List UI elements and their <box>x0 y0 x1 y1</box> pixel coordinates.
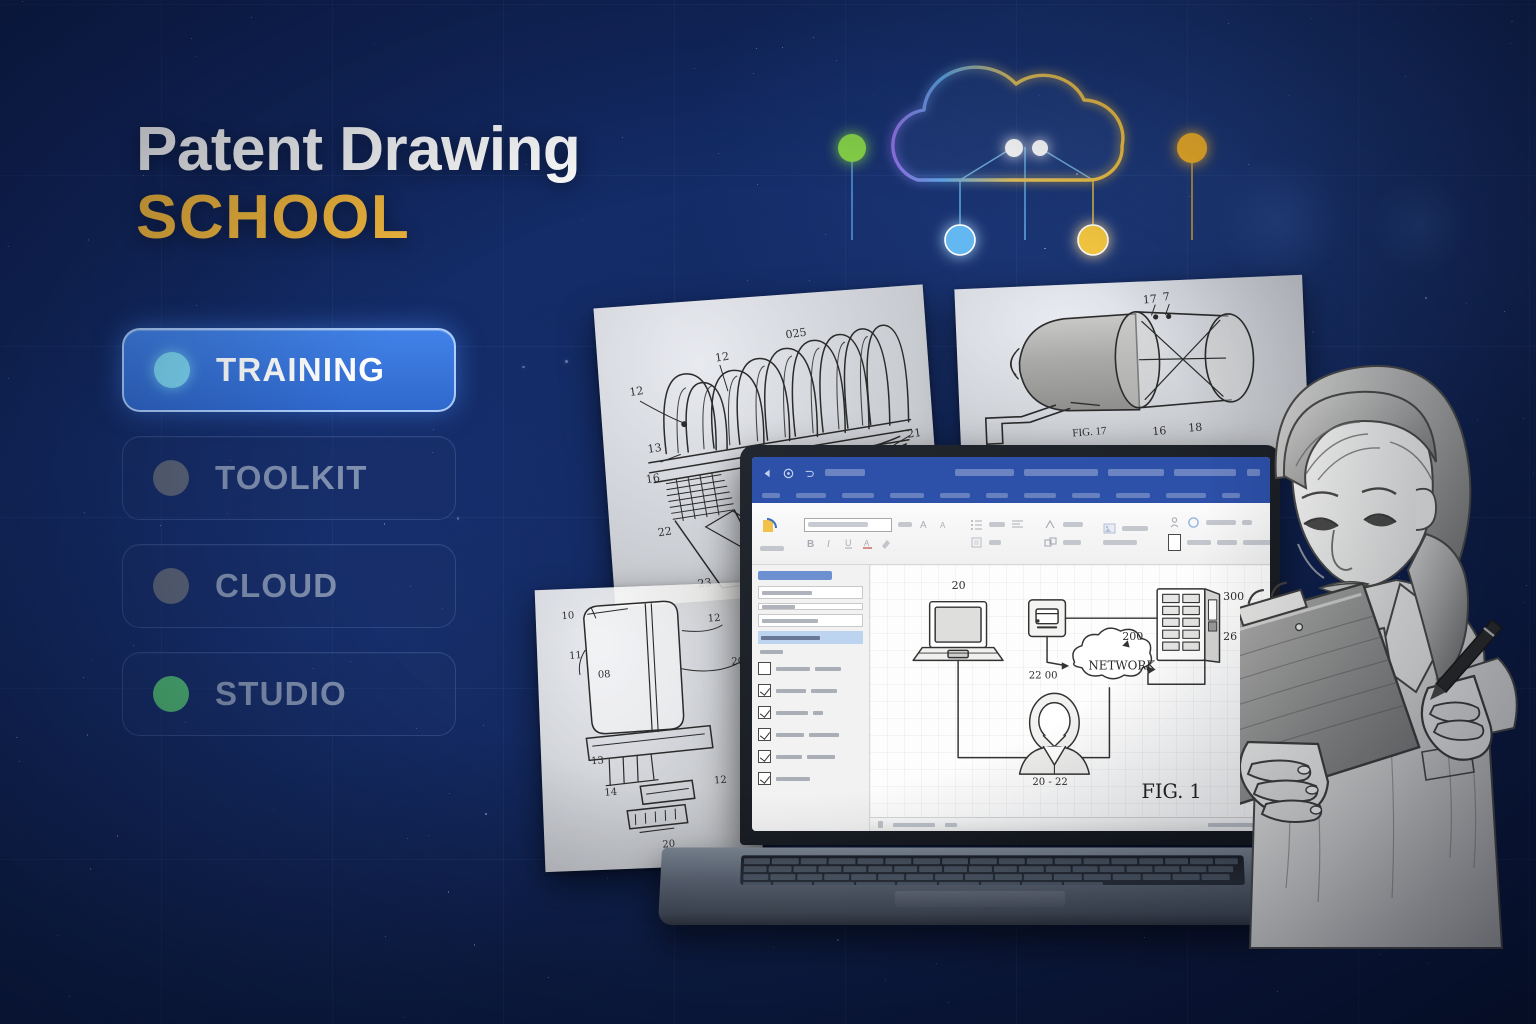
svg-text:14: 14 <box>604 787 618 799</box>
zoom-control-blur[interactable] <box>1208 823 1262 827</box>
laptop-base <box>658 847 1282 925</box>
sidebar-field-3[interactable] <box>758 614 863 627</box>
shapes-blur-3 <box>1187 540 1211 545</box>
patent-sheet-panel-device: 10 12 11 08 20 13 14 12 20 <box>535 582 764 872</box>
laptop-keyboard <box>740 855 1245 885</box>
svg-text:B: B <box>807 539 814 550</box>
list-item[interactable] <box>758 772 863 785</box>
list-item[interactable] <box>758 662 863 675</box>
nav-label-studio: STUDIO <box>215 675 347 713</box>
callout-person: 20 - 22 <box>1032 777 1067 788</box>
group-icon[interactable] <box>1044 536 1057 549</box>
list-item-value-blur <box>807 755 835 759</box>
arrange-blur-1 <box>1063 522 1083 527</box>
list-item-label-blur <box>776 755 802 759</box>
sidebar-field-2[interactable] <box>758 603 863 610</box>
svg-text:22: 22 <box>657 524 673 539</box>
font-name-field[interactable] <box>804 518 892 532</box>
svg-text:A: A <box>864 539 870 548</box>
window-minimize-icon[interactable] <box>1247 469 1260 476</box>
callout-monitor: 22 00 <box>1029 671 1058 682</box>
sidebar-field-2-text-blur <box>762 605 795 609</box>
status-icon-blur <box>878 821 883 828</box>
svg-text:13: 13 <box>591 755 605 767</box>
svg-text:I: I <box>827 539 830 550</box>
svg-text:025: 025 <box>785 326 808 342</box>
paragraph-blur-2[interactable] <box>989 540 1001 545</box>
status-dot-studio <box>153 676 189 712</box>
nav-item-studio[interactable]: STUDIO <box>122 652 456 736</box>
app-ribbon-toolbar: A A B I <box>752 503 1270 565</box>
align-icon[interactable] <box>1011 518 1024 531</box>
svg-text:13: 13 <box>647 441 663 456</box>
decrease-font-icon[interactable]: A <box>937 518 950 531</box>
list-item[interactable] <box>758 750 863 763</box>
list-item[interactable] <box>758 684 863 697</box>
menu-item-blur-10[interactable] <box>1166 493 1206 498</box>
svg-text:12: 12 <box>714 775 728 787</box>
titlebar-text-blur-4 <box>1174 469 1236 476</box>
svg-text:7: 7 <box>1162 290 1170 303</box>
italic-icon[interactable]: I <box>823 537 836 550</box>
svg-text:U: U <box>845 538 852 548</box>
app-sidebar-panel <box>752 565 870 831</box>
list-item-value-blur <box>809 733 839 737</box>
svg-text:16: 16 <box>645 471 661 486</box>
svg-text:12: 12 <box>629 384 645 399</box>
app-menubar <box>752 487 1270 503</box>
woman-with-clipboard-illustration <box>1240 348 1536 958</box>
sidebar-selected-row[interactable] <box>758 631 863 644</box>
clipboard-label-blur <box>760 546 784 551</box>
sidebar-section-label-blur <box>760 650 783 654</box>
bullet-list-icon[interactable] <box>970 518 983 531</box>
status-dot-training <box>154 352 190 388</box>
sidebar-field-1[interactable] <box>758 586 863 599</box>
hero-banner: Patent Drawing SCHOOL TRAINING TOOLKIT C… <box>0 0 1536 1024</box>
svg-text:16: 16 <box>1152 424 1167 438</box>
sidebar-option-list <box>758 662 863 785</box>
arrange-blur-2 <box>1063 540 1081 545</box>
insert-blur-1 <box>1122 526 1148 531</box>
list-item-value-blur <box>813 711 823 715</box>
svg-text:17: 17 <box>1142 292 1157 306</box>
nav-menu: TRAINING TOOLKIT CLOUD STUDIO <box>122 328 456 736</box>
rectangle-shape-icon[interactable] <box>1168 534 1181 551</box>
callout-laptop: 20 <box>952 579 966 592</box>
picture-icon[interactable] <box>1103 522 1116 535</box>
undo-icon[interactable] <box>804 466 815 479</box>
bokeh-orb-right <box>1215 155 1345 285</box>
ribbon-group-clipboard <box>760 516 784 551</box>
network-cloud-label: NETWORK <box>1088 659 1156 673</box>
list-item-label-blur <box>776 777 810 781</box>
laptop-mockup: A A B I <box>660 445 1280 925</box>
sidebar-selected-text-blur <box>761 636 820 640</box>
nav-label-cloud: CLOUD <box>215 567 338 605</box>
svg-text:23: 23 <box>697 576 713 591</box>
list-item-label-blur <box>776 733 804 737</box>
menu-item-blur-11[interactable] <box>1222 493 1240 498</box>
svg-text:18: 18 <box>1188 421 1203 435</box>
patent-sheet-cylinder-vessel: 17 7 FIG. 17 16 18 <box>954 275 1309 471</box>
shapes-blur-5 <box>1243 540 1270 545</box>
status-text-blur-1 <box>893 823 935 827</box>
menu-item-blur-1[interactable] <box>762 493 780 498</box>
menu-item-blur-9[interactable] <box>1116 493 1150 498</box>
svg-text:FIG. 17: FIG. 17 <box>1072 425 1108 440</box>
shapes-blur-2 <box>1242 520 1252 525</box>
list-item[interactable] <box>758 706 863 719</box>
svg-text:21: 21 <box>906 426 922 441</box>
ribbon-group-font: A A B I <box>804 518 950 550</box>
ribbon-group-shapes <box>1168 516 1270 551</box>
ribbon-group-insert <box>1103 522 1148 545</box>
node-white-core-1 <box>1005 139 1023 157</box>
arrange-icon[interactable] <box>1044 518 1057 531</box>
nav-item-toolkit[interactable]: TOOLKIT <box>122 436 456 520</box>
insert-blur-2 <box>1103 540 1137 545</box>
checkbox-unchecked-icon[interactable] <box>758 662 771 675</box>
callout-server-top: 300 <box>1223 590 1244 603</box>
patent-sheet-coil-mechanism: 12 12 025 13 16 22 23 21 <box>593 284 944 607</box>
callout-server-bottom: 26 <box>1223 630 1237 643</box>
svg-text:20: 20 <box>731 656 745 668</box>
checkbox-checked-icon[interactable] <box>758 684 771 697</box>
laptop-trackpad <box>895 891 1066 907</box>
ribbon-group-paragraph <box>970 518 1024 549</box>
nav-item-cloud[interactable]: CLOUD <box>122 544 456 628</box>
node-yellow-right <box>1177 133 1207 163</box>
checkbox-checked-icon[interactable] <box>758 750 771 763</box>
back-arrow-icon[interactable] <box>762 466 773 479</box>
person-shape-icon[interactable] <box>1168 516 1181 529</box>
list-item-label-blur <box>776 667 810 671</box>
callout-network: 200 <box>1122 630 1143 643</box>
sidebar-field-3-text-blur <box>762 619 818 623</box>
shape-fill-icon[interactable] <box>970 536 983 549</box>
menu-item-blur-4[interactable] <box>890 493 924 498</box>
nav-label-toolkit: TOOLKIT <box>215 459 368 497</box>
status-text-blur-2 <box>945 823 957 827</box>
text-color-icon[interactable]: A <box>861 537 874 550</box>
titlebar-field-blur <box>825 469 865 476</box>
page-title: Patent Drawing SCHOOL <box>136 118 696 254</box>
titlebar-text-blur-3 <box>1108 469 1164 476</box>
list-item-label-blur <box>776 711 808 715</box>
laptop-lid: A A B I <box>740 445 1280 845</box>
node-white-core-2 <box>1032 140 1048 156</box>
status-dot-cloud <box>153 568 189 604</box>
svg-text:11: 11 <box>569 650 583 662</box>
menu-item-blur-2[interactable] <box>796 493 826 498</box>
headline-line-2: SCHOOL <box>136 181 696 254</box>
figure-1-diagram: 20 22 00 200 300 26 20 - 22 FIG. 1 NETWO… <box>870 565 1270 831</box>
app-statusbar <box>870 817 1270 831</box>
checkbox-checked-icon[interactable] <box>758 728 771 741</box>
svg-text:A: A <box>940 521 946 530</box>
titlebar-text-blur-1 <box>955 469 1014 476</box>
paragraph-blur-1[interactable] <box>989 522 1005 527</box>
paste-icon[interactable] <box>760 516 782 541</box>
svg-text:10: 10 <box>561 610 575 622</box>
drawing-canvas[interactable]: 20 22 00 200 300 26 20 - 22 FIG. 1 NETWO… <box>870 565 1270 831</box>
app-workarea: 20 22 00 200 300 26 20 - 22 FIG. 1 NETWO… <box>752 565 1270 831</box>
svg-text:08: 08 <box>597 669 611 681</box>
font-name-blur <box>808 522 868 527</box>
sidebar-field-1-text-blur <box>762 591 812 595</box>
menu-item-blur-5[interactable] <box>940 493 970 498</box>
svg-text:12: 12 <box>707 613 721 625</box>
cloud-network-graphic <box>800 35 1240 275</box>
menu-item-blur-7[interactable] <box>1024 493 1056 498</box>
node-yellow-bottom <box>1078 225 1108 255</box>
list-item-value-blur <box>811 689 837 693</box>
laptop-screen: A A B I <box>752 457 1270 831</box>
shapes-blur-4 <box>1217 540 1237 545</box>
list-item-label-blur <box>776 689 806 693</box>
bold-icon[interactable]: B <box>804 537 817 550</box>
headline-line-1: Patent Drawing <box>136 118 696 181</box>
save-icon[interactable] <box>783 466 794 479</box>
node-green-left <box>838 134 866 162</box>
ribbon-group-arrange <box>1044 518 1083 549</box>
font-size-blur[interactable] <box>898 522 912 527</box>
menu-item-blur-8[interactable] <box>1072 493 1100 498</box>
bokeh-orb-left <box>1370 175 1470 275</box>
svg-text:12: 12 <box>714 350 730 365</box>
checkbox-checked-icon[interactable] <box>758 772 771 785</box>
nav-label-training: TRAINING <box>216 351 385 389</box>
svg-text:20: 20 <box>662 839 676 851</box>
node-blue-bottom <box>945 225 975 255</box>
titlebar-text-blur-2 <box>1024 469 1098 476</box>
figure-label: FIG. 1 <box>1142 780 1202 803</box>
menu-item-blur-6[interactable] <box>986 493 1008 498</box>
sidebar-panel-title-blur <box>758 571 832 580</box>
svg-text:A: A <box>920 520 927 531</box>
app-titlebar <box>752 457 1270 487</box>
highlight-icon[interactable] <box>880 537 893 550</box>
list-item[interactable] <box>758 728 863 741</box>
menu-item-blur-3[interactable] <box>842 493 874 498</box>
status-dot-toolkit <box>153 460 189 496</box>
underline-icon[interactable]: U <box>842 537 855 550</box>
nav-item-training[interactable]: TRAINING <box>122 328 456 412</box>
checkbox-checked-icon[interactable] <box>758 706 771 719</box>
increase-font-icon[interactable]: A <box>918 518 931 531</box>
list-item-value-blur <box>815 667 841 671</box>
shapes-blur-1 <box>1206 520 1236 525</box>
circle-shape-icon[interactable] <box>1187 516 1200 529</box>
